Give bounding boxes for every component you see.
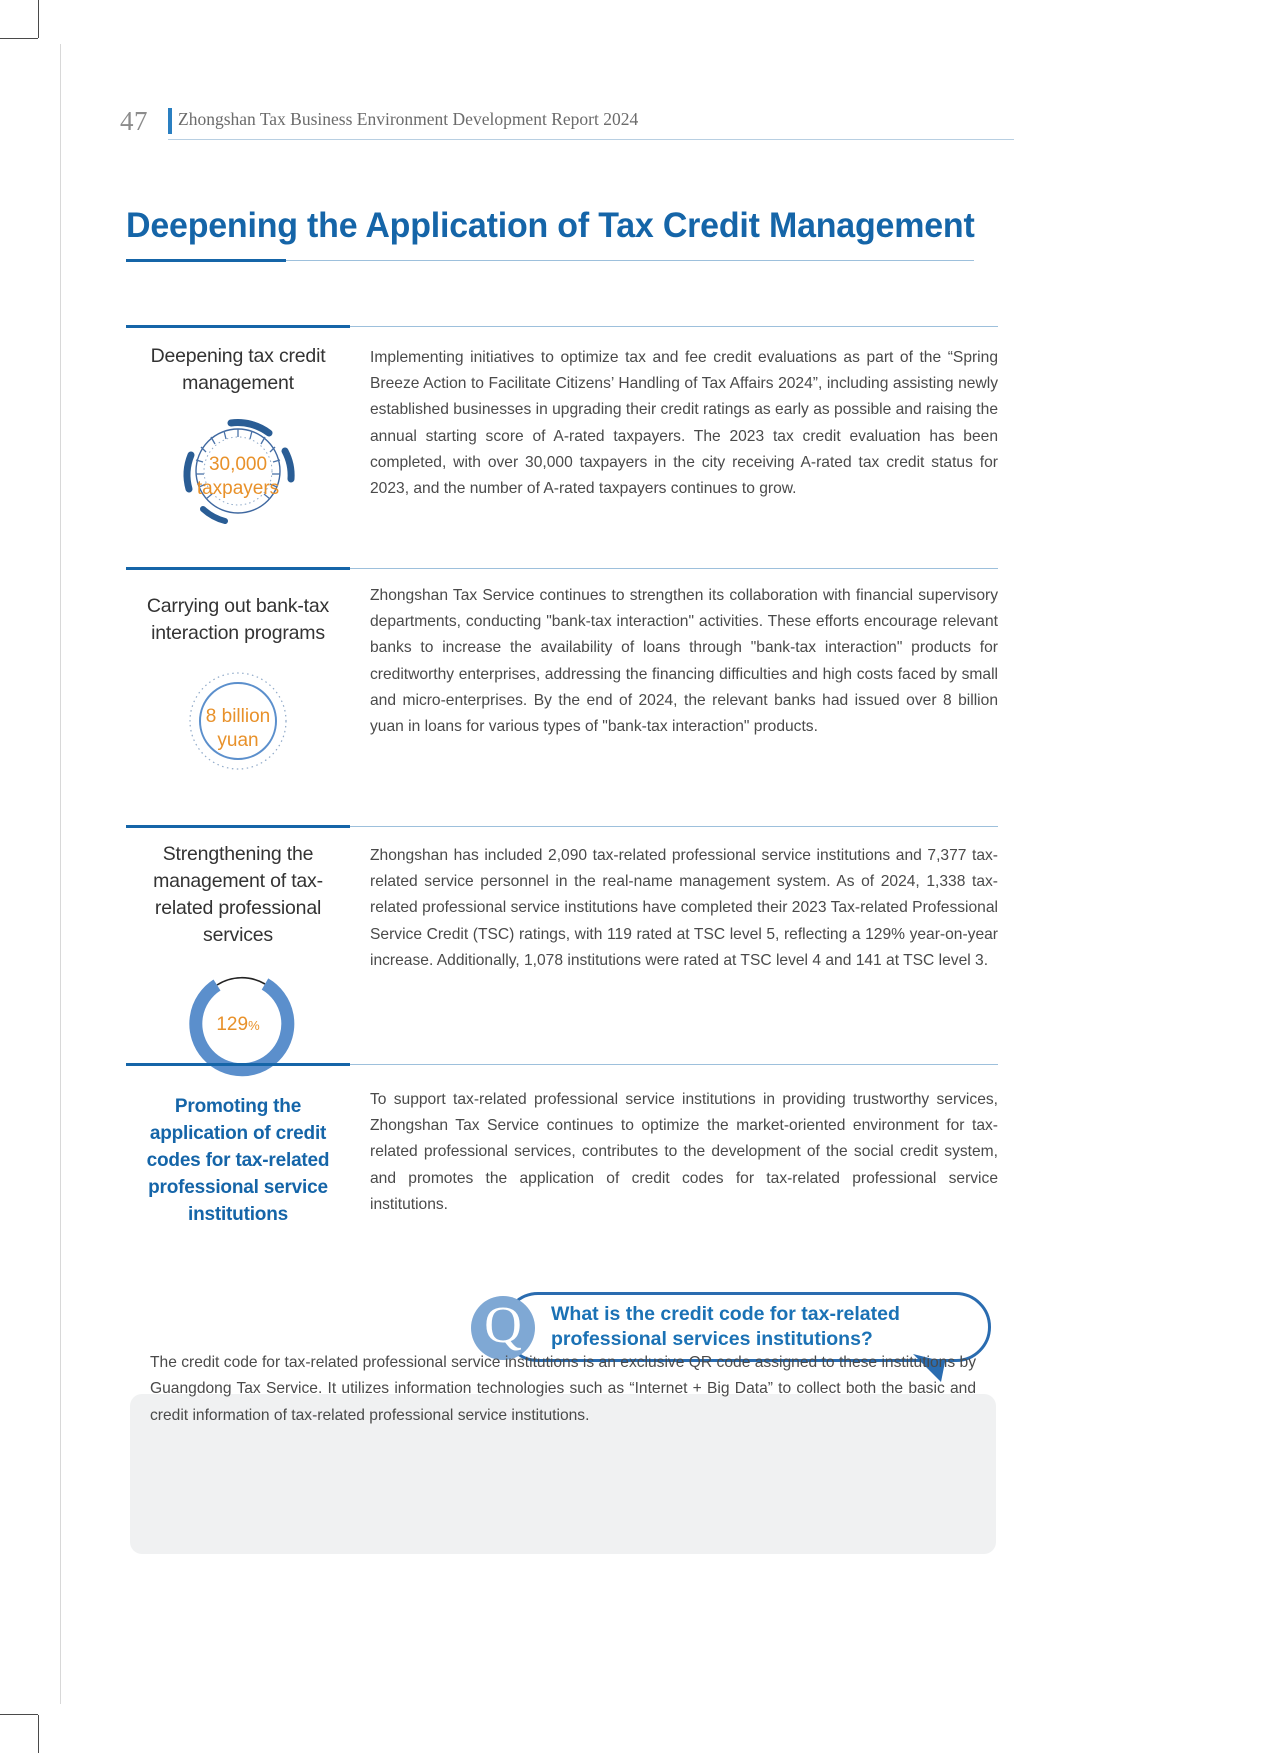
section-left-column: Promoting the application of credit code… — [126, 1093, 350, 1228]
crop-mark-bottom-left — [38, 1715, 39, 1753]
section-divider-light — [350, 1064, 998, 1065]
section-divider-light — [350, 568, 998, 569]
section-left-column: Carrying out bank-tax interaction progra… — [126, 593, 350, 777]
section-body-text: Implementing initiatives to optimize tax… — [370, 345, 998, 502]
metric-secondary: yuan — [126, 729, 350, 753]
title-rule-light — [286, 260, 974, 261]
section-heading: Deepening tax credit management — [126, 343, 350, 397]
crop-mark-left-top — [0, 38, 38, 39]
running-title: Zhongshan Tax Business Environment Devel… — [178, 109, 638, 130]
donut-value-label: 129% — [126, 1013, 350, 1038]
gauge-chart-taxpayers: 30,000 taxpayers — [126, 413, 350, 525]
header-rule — [168, 139, 1014, 140]
running-header: 47 Zhongshan Tax Business Environment De… — [120, 104, 1004, 144]
section-body-text: To support tax-related professional serv… — [370, 1087, 998, 1218]
page-title: Deepening the Application of Tax Credit … — [126, 206, 975, 246]
section-divider-accent — [126, 825, 350, 828]
ring-chart-loans: 8 billion yuan — [126, 665, 350, 777]
section-left-column: Deepening tax credit management — [126, 343, 350, 525]
crop-mark-top-left — [38, 0, 39, 38]
section-divider-accent — [126, 325, 350, 328]
section-body-text: Zhongshan Tax Service continues to stren… — [370, 583, 998, 740]
section-divider-light — [350, 326, 998, 327]
section-divider-light — [350, 826, 998, 827]
metric-primary: 129 — [216, 1014, 248, 1035]
section-body-text: Zhongshan has included 2,090 tax-related… — [370, 843, 998, 974]
gauge-value-label: 30,000 taxpayers — [126, 453, 350, 501]
section-heading: Promoting the application of credit code… — [126, 1093, 350, 1228]
header-tick-mark — [168, 108, 172, 134]
metric-primary: 8 billion — [126, 705, 350, 729]
ring-value-label: 8 billion yuan — [126, 705, 350, 753]
metric-primary: 30,000 — [126, 453, 350, 477]
question-text: What is the credit code for tax-related … — [551, 1302, 971, 1352]
section-left-column: Strengthening the management of tax-rela… — [126, 841, 350, 1083]
metric-unit: % — [248, 1018, 260, 1033]
section-divider-accent — [126, 567, 350, 570]
answer-text: The credit code for tax-related professi… — [150, 1350, 976, 1429]
page-number: 47 — [120, 106, 148, 137]
title-rule-accent — [126, 259, 286, 262]
section-heading: Strengthening the management of tax-rela… — [126, 841, 350, 949]
section-divider-accent — [126, 1063, 350, 1066]
metric-secondary: taxpayers — [126, 477, 350, 501]
crop-mark-left-bottom — [0, 1714, 38, 1715]
section-heading: Carrying out bank-tax interaction progra… — [126, 593, 350, 647]
